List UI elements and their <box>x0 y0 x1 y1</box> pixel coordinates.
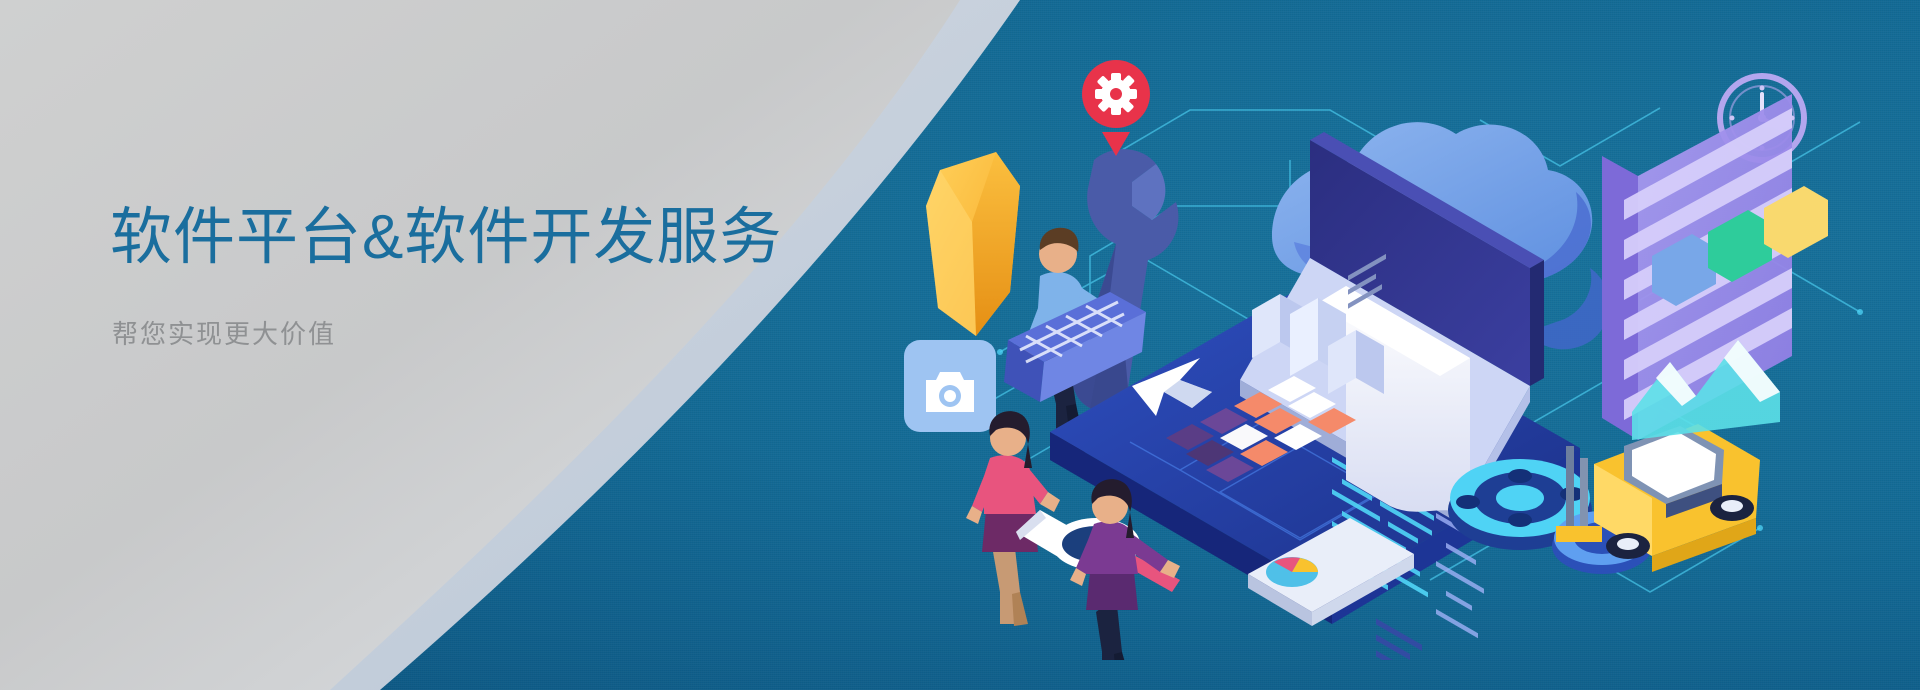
hero-banner: 软件平台&软件开发服务 帮您实现更大价值 <box>0 0 1920 690</box>
page-subtitle: 帮您实现更大价值 <box>112 314 870 351</box>
page-title: 软件平台&软件开发服务 <box>110 205 870 270</box>
banner-text-block: 软件平台&软件开发服务 帮您实现更大价值 <box>110 205 870 351</box>
